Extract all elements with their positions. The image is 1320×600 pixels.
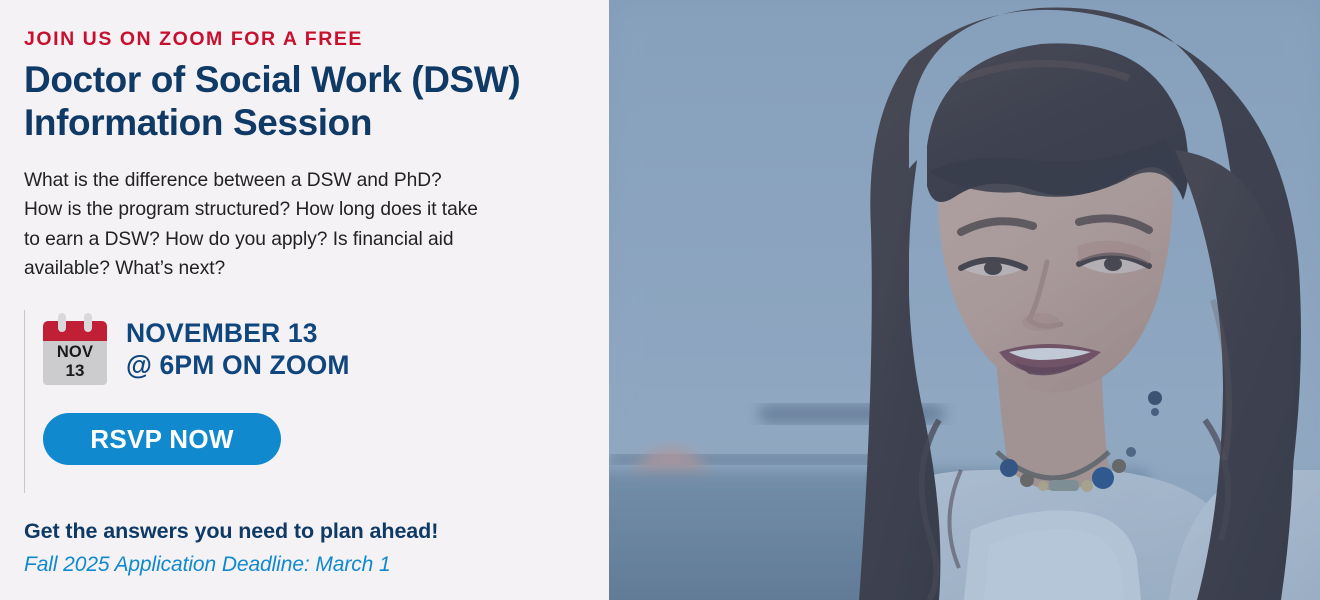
- calendar-ring-right: [84, 313, 92, 332]
- event-details-group: NOV 13 NOVEMBER 13 @ 6PM ON ZOOM RSVP NO…: [24, 310, 350, 493]
- event-date-line-2: @ 6PM ON ZOOM: [126, 349, 350, 381]
- headline-line-1: Doctor of Social Work (DSW): [24, 59, 520, 100]
- body-line-1: What is the difference between a DSW and…: [24, 166, 585, 195]
- left-content-panel: JOIN US ON ZOOM FOR A FREE Doctor of Soc…: [0, 0, 609, 600]
- calendar-month-label: NOV: [57, 344, 93, 361]
- event-date-text: NOVEMBER 13 @ 6PM ON ZOOM: [126, 317, 350, 382]
- page-title: Doctor of Social Work (DSW) Information …: [24, 59, 585, 145]
- calendar-day-label: 13: [66, 361, 85, 381]
- footer-block: Get the answers you need to plan ahead! …: [24, 518, 438, 578]
- footer-lead-text: Get the answers you need to plan ahead!: [24, 518, 438, 546]
- body-line-3: to earn a DSW? How do you apply? Is fina…: [24, 225, 585, 254]
- event-promo-banner: JOIN US ON ZOOM FOR A FREE Doctor of Soc…: [0, 0, 1320, 600]
- calendar-header-bar: [43, 321, 107, 341]
- rsvp-now-button[interactable]: RSVP NOW: [43, 413, 281, 465]
- calendar-icon: NOV 13: [43, 313, 107, 385]
- calendar-body: NOV 13: [43, 339, 107, 385]
- body-line-4: available? What’s next?: [24, 254, 585, 283]
- body-line-2: How is the program structured? How long …: [24, 195, 585, 224]
- event-date-row: NOV 13 NOVEMBER 13 @ 6PM ON ZOOM: [43, 310, 350, 388]
- application-deadline-text: Fall 2025 Application Deadline: March 1: [24, 551, 438, 578]
- event-date-line-1: NOVEMBER 13: [126, 317, 350, 349]
- eyebrow-text: JOIN US ON ZOOM FOR A FREE: [24, 28, 585, 50]
- calendar-ring-left: [58, 313, 66, 332]
- body-copy: What is the difference between a DSW and…: [24, 166, 585, 283]
- headline-line-2: Information Session: [24, 102, 585, 145]
- hero-photo: [609, 0, 1320, 600]
